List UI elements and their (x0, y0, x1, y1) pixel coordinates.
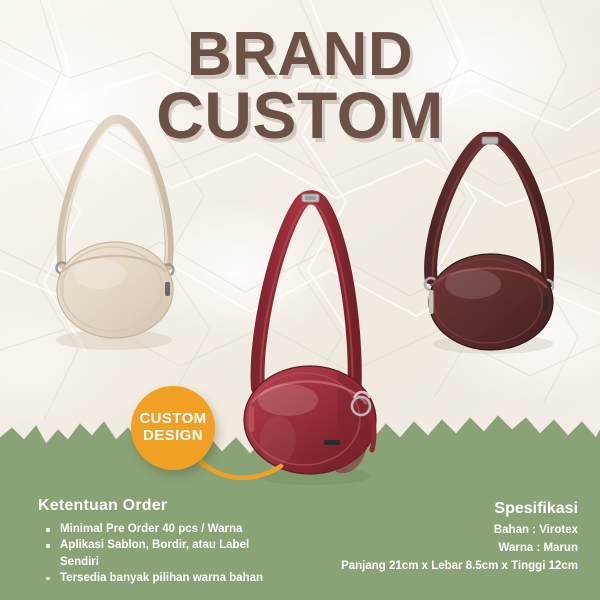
order-terms-block: Ketentuan Order Minimal Pre Order 40 pcs… (38, 497, 275, 586)
product-image-sling-bag-dark-brown (405, 132, 577, 364)
specification-block: Spesifikasi Bahan : Virotex Warna : Maru… (341, 500, 578, 575)
poster-canvas: BRAND CUSTOM (0, 0, 600, 600)
badge-line-1: CUSTOM (139, 411, 206, 428)
dark-brown-bag-svg (405, 132, 577, 364)
specification-line: Bahan : Virotex (341, 522, 578, 540)
product-image-sling-bag-cream (38, 112, 188, 362)
badge-line-2: DESIGN (143, 428, 203, 445)
order-term-item: Aplikasi Sablon, Bordir, atau Label Send… (58, 537, 275, 570)
specification-line: Warna : Marun (341, 540, 578, 558)
cream-bag-svg (38, 112, 188, 362)
headline-line-1: BRAND (0, 26, 600, 83)
order-term-item: Minimal Pre Order 40 pcs / Warna (58, 521, 275, 537)
specification-title: Spesifikasi (341, 500, 578, 518)
order-term-item: Tersedia banyak pilihan warna bahan (58, 570, 275, 586)
order-terms-list: Minimal Pre Order 40 pcs / Warna Aplikas… (38, 521, 275, 586)
order-terms-title: Ketentuan Order (38, 497, 275, 515)
specification-line: Panjang 21cm x Lebar 8.5cm x Tinggi 12cm (341, 558, 578, 576)
custom-design-badge[interactable]: CUSTOM DESIGN (131, 386, 215, 470)
